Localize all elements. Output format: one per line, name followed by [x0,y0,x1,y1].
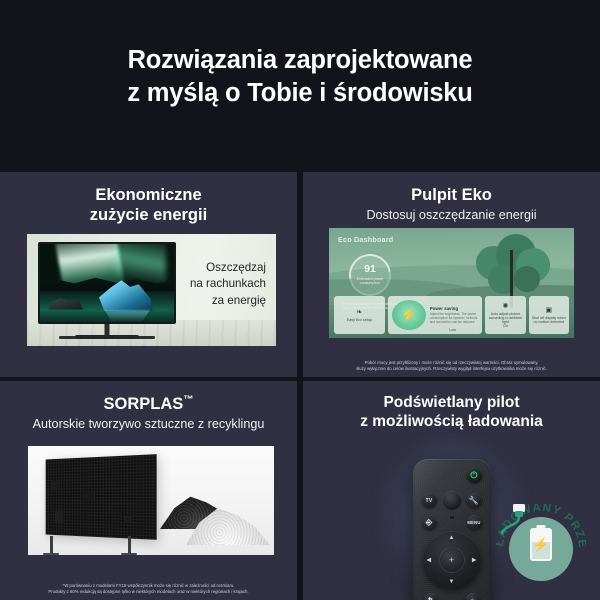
panel-detail-2 [83,493,94,499]
panel-sorplas[interactable]: SORPLAS™ Autorskie tworzywo sztuczne z r… [0,381,297,600]
dpad-ring[interactable]: ▲ ▼ ◀ ▶ + [423,531,481,589]
panel-sorplas-title: SORPLAS™ [104,394,194,414]
eco-card-power-saving-desc: Adjust the brightness. The power consump… [430,312,479,324]
tv-leg-right [128,536,131,553]
caption-line3: za energię [168,293,266,309]
power-gauge-value: 91 Estimated power consumption [349,254,391,296]
panel-energy-title-line1: Ekonomiczne [95,186,201,204]
panel-eco-dashboard[interactable]: Pulpit Eko Dostosuj oszczędzanie energii… [303,172,600,377]
remote-control: ⏻ TV 🔧 ⎆ MENU ▲ ▼ ◀ ▶ + ↰ ⌂ + ♪ + [413,459,491,600]
caption-line1: Oszczędzaj [168,260,266,276]
usb-c-charging-badge: ŁADOWANY PRZEZ USB-C ⚡ [496,504,586,594]
power-button-icon[interactable]: ⏻ [467,468,482,483]
panel-energy-title: Ekonomiczne zużycie energii [90,185,207,225]
panel-detail-4 [125,516,130,523]
eco-card-easy-setup-label: Easy Eco setup [347,318,372,322]
tv-stand [75,335,139,339]
tv-leg-left [50,536,53,553]
eco-card-auto-brightness-label: Auto adjust picture according to ambient… [487,312,523,324]
dpad-up-icon[interactable]: ▲ [449,535,455,541]
tree-foliage-5 [514,266,540,292]
display-off-icon: ▣ [546,307,553,314]
back-button-icon[interactable]: ↰ [424,593,438,600]
tv-leg-base-right [121,553,137,556]
trademark-symbol: ™ [183,395,193,406]
home-button-icon[interactable]: ⌂ [466,593,480,600]
mic-indicator [450,516,454,519]
energy-tv-image: Oszczędzaj na rachunkach za energię [27,234,276,346]
panel-energy-consumption[interactable]: Ekonomiczne zużycie energii [0,172,297,377]
sorplas-image [28,446,274,555]
sorplas-disclaimer: *W porównaniu z modelami FY18 współczynn… [10,583,287,596]
microphone-button[interactable] [442,491,461,510]
hero-header: Rozwiązania zaprojektowane z myślą o Tob… [0,0,600,172]
eco-card-auto-brightness[interactable]: ✺ Auto adjust picture according to ambie… [485,296,525,334]
eco-card-power-saving[interactable]: ⚡ Power saving Adjust the brightness. Th… [388,296,483,334]
eco-dashboard-label: Eco Dashboard [338,235,393,244]
tree-illustration [474,232,550,306]
dpad-center-button[interactable]: + [439,547,465,573]
eco-disclaimer-line2: służy wyłącznie do celów ilustracyjnych.… [356,366,547,371]
gauge-number: 91 [364,264,376,275]
eco-card-power-saving-text: Power saving Adjust the brightness. The … [430,306,479,325]
gauge-caption: Estimated power consumption [349,277,391,286]
dpad-left-icon[interactable]: ◀ [427,557,432,564]
panel-energy-title-line2: zużycie energii [90,206,207,224]
page-title: Rozwiązania zaprojektowane z myślą o Tob… [127,44,472,110]
panel-remote-title-line1: Podświetlany pilot [383,394,519,411]
dpad-right-icon[interactable]: ▶ [472,557,477,564]
eco-card-shut-off-label: Shut off display when no motion detected [531,316,567,324]
remote-image: ⏻ TV 🔧 ⎆ MENU ▲ ▼ ◀ ▶ + ↰ ⌂ + ♪ + [303,433,600,600]
eco-card-power-saving-value: Low [449,328,456,332]
panel-eco-subtitle: Dostosuj oszczędzanie energii [366,208,536,224]
eco-card-power-saving-title: Power saving [430,306,479,311]
hero-title-line2: z myślą o Tobie i środowisku [127,77,472,110]
sorplas-disclaimer-line2: Produkty z 60% redukcją są dostępne tylk… [48,589,248,594]
tv-illustration [38,242,176,324]
lightning-bolt-icon: ⚡ [533,538,549,551]
feature-grid: Ekonomiczne zużycie energii [0,172,600,600]
eco-card-auto-brightness-value: On [503,324,508,328]
tv-leg-base-left [43,553,59,556]
eco-card-shut-off-display[interactable]: ▣ Shut off display when no motion detect… [529,296,569,334]
menu-button[interactable]: MENU [467,515,482,530]
panel-detail-3 [55,510,63,523]
eco-card-easy-setup[interactable]: ❧ Easy Eco setup [334,296,385,334]
leaf-icon: ❧ [356,309,362,316]
tv-button[interactable]: TV [422,493,437,508]
sorplas-disclaimer-line1: *W porównaniu z modelami FY18 współczynn… [63,583,235,588]
settings-wrench-icon[interactable]: 🔧 [467,493,482,508]
hands-leaf-icon: ⚡ [392,300,426,330]
energy-image-caption: Oszczędzaj na rachunkach za energię [168,260,266,309]
tv-screen [38,242,176,324]
eco-disclaimer-line1: Pobór mocy jest przybliżony i może różni… [365,360,539,365]
caption-line2: na rachunkach [168,276,266,292]
hero-title-line1: Rozwiązania zaprojektowane [127,44,472,77]
panel-detail-1 [52,482,58,491]
panel-backlit-remote[interactable]: Podświetlany pilot z możliwością ładowan… [303,381,600,600]
panel-sorplas-subtitle: Autorskie tworzywo sztuczne z recyklingu [33,417,265,433]
eco-dashboard-screenshot: Eco Dashboard 91 Estimated power consump… [329,228,574,338]
usb-cable-icon [496,504,542,536]
panel-remote-title-line2: z możliwością ładowania [360,413,543,430]
input-source-icon[interactable]: ⎆ [422,515,437,530]
panel-sorplas-title-text: SORPLAS [104,395,184,413]
eco-disclaimer: Pobór mocy jest przybliżony i może różni… [313,360,590,373]
panel-remote-title: Podświetlany pilot z możliwością ładowan… [360,394,543,432]
panel-eco-title: Pulpit Eko [411,185,492,205]
tv-back-panel [46,454,157,540]
brightness-icon: ✺ [503,303,509,310]
dpad-down-icon[interactable]: ▼ [449,579,455,585]
